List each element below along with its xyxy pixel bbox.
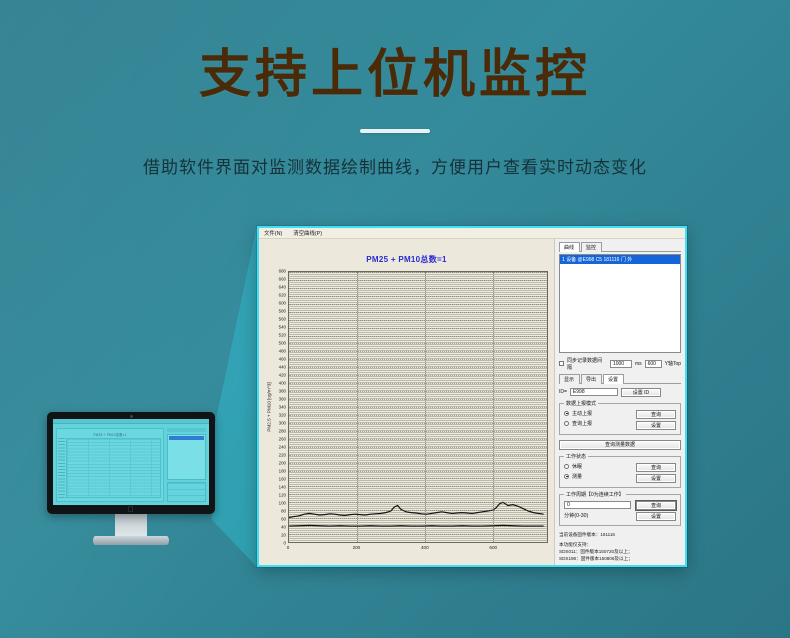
chart-y-axis-label: PM2.5 + PM10 [ug/m^3]	[264, 271, 273, 543]
work-cycle-input[interactable]: 0	[564, 501, 631, 509]
sync-interval-input[interactable]: 1000	[610, 360, 632, 368]
work-cycle-hint: 分钟(0-30)	[564, 512, 631, 519]
chart-gridline-h	[289, 359, 547, 360]
chart-x-ticks: 0200400600	[288, 545, 548, 557]
chart-x-tick: 400	[421, 545, 429, 550]
chart-y-tick: 100	[279, 501, 286, 506]
chart-y-tick: 620	[279, 293, 286, 298]
work-state-option-sleep-row[interactable]: 休眠	[564, 463, 631, 470]
mini-chart-plot	[66, 438, 161, 498]
device-id-label: ID=	[559, 389, 567, 395]
work-state-set-button[interactable]: 设置	[636, 474, 676, 483]
chart-gridline-h	[289, 447, 547, 448]
chart-gridline-h	[289, 526, 547, 527]
chart-gridline-h	[289, 455, 547, 456]
report-mode-radio-query[interactable]	[564, 421, 569, 426]
page-title: 支持上位机监控	[0, 46, 790, 106]
footnote-support-line-2: SDS198：固件版本150806及以上；	[559, 555, 681, 562]
chart-y-tick: 300	[279, 421, 286, 426]
mini-panel-column	[167, 428, 206, 502]
chart-gridline-h	[289, 534, 547, 535]
work-cycle-body: 0 分钟(0-30) 查询 设置	[564, 501, 676, 521]
chart-gridline-h	[289, 328, 547, 329]
chart-y-tick: 220	[279, 453, 286, 458]
monitor-mini-app: PM25 + PM10总数=1	[53, 419, 209, 505]
work-state-option-measure-row[interactable]: 测量	[564, 473, 631, 480]
chart-gridline-h	[289, 304, 547, 305]
chart-gridline-h	[289, 542, 547, 543]
mini-chart-yticks	[58, 438, 65, 498]
chart-y-tick: 240	[279, 445, 286, 450]
work-cycle-legend: 工作周期【0为连续工作】	[564, 491, 626, 498]
mini-body: PM25 + PM10总数=1	[53, 425, 209, 505]
chart-gridline-h	[289, 288, 547, 289]
report-mode-label-active: 主动上报	[572, 410, 592, 417]
chart-gridline-h	[289, 407, 547, 408]
report-mode-body: 主动上报 查询上报 查询 设置	[564, 410, 676, 430]
subtab-display[interactable]: 显示	[559, 374, 580, 384]
report-mode-label-query: 查询上报	[572, 420, 592, 427]
window-body: PM25 + PM10总数=1 PM2.5 + PM10 [ug/m^3] 02…	[259, 239, 685, 565]
chart-gridline-h	[289, 463, 547, 464]
report-mode-group: 数据上报模式 主动上报 查询上报	[559, 403, 681, 435]
mini-device-selected	[169, 436, 204, 440]
chart-y-tick: 320	[279, 413, 286, 418]
chart-gridline-h	[289, 494, 547, 495]
chart-y-tick: 360	[279, 397, 286, 402]
chart-y-tick: 660	[279, 277, 286, 282]
device-id-input[interactable]: E998	[570, 388, 618, 396]
chart-gridline-h	[289, 367, 547, 368]
chart-y-tick: 120	[279, 493, 286, 498]
chart-y-axis-label-text: PM2.5 + PM10 [ug/m^3]	[266, 382, 271, 431]
sync-record-checkbox[interactable]	[559, 361, 564, 366]
work-state-radio-measure[interactable]	[564, 474, 569, 479]
monitor-camera-icon	[130, 415, 133, 418]
device-list[interactable]: 1 设备 @E998 C5 181116 门 外	[559, 254, 681, 353]
chart-plot-area[interactable]	[288, 271, 548, 543]
mini-tabs	[167, 428, 206, 432]
control-panel: 曲线 监控 1 设备 @E998 C5 181116 门 外 同步记录数据间隔 …	[555, 239, 685, 565]
chart-gridline-h	[289, 272, 547, 273]
tab-curve[interactable]: 曲线	[559, 242, 580, 252]
chart-x-tick: 600	[489, 545, 497, 550]
chart-gridline-h	[289, 471, 547, 472]
chart-y-tick: 440	[279, 365, 286, 370]
chart-area: PM2.5 + PM10 [ug/m^3] 020406080100120140…	[264, 271, 548, 543]
mini-menubar	[53, 419, 209, 424]
chart-gridline-v	[357, 272, 358, 542]
set-id-button[interactable]: 设置 ID	[621, 388, 661, 397]
chart-y-tick: 0	[284, 541, 286, 546]
chart-gridline-h	[289, 486, 547, 487]
report-mode-option-active-row[interactable]: 主动上报	[564, 410, 631, 417]
sync-record-label: 同步记录数据间隔	[567, 357, 607, 371]
y-top-input[interactable]: 600	[645, 360, 662, 368]
footnote-support-title: 本功能仅支持：	[559, 541, 681, 548]
footnote-firmware: 当前设备固件版本：181116	[559, 531, 681, 538]
chart-gridline-h	[289, 510, 547, 511]
chart-y-tick: 280	[279, 429, 286, 434]
monitor-neck	[115, 512, 147, 538]
chart-y-tick: 180	[279, 469, 286, 474]
chart-y-tick: 140	[279, 485, 286, 490]
chart-y-tick: 600	[279, 301, 286, 306]
work-cycle-set-button[interactable]: 设置	[636, 512, 676, 521]
chart-y-tick: 260	[279, 437, 286, 442]
footnote-support-line-1: SDS011：固件版本150720及以上；	[559, 548, 681, 555]
device-list-item[interactable]: 1 设备 @E998 C5 181116 门 外	[560, 255, 680, 264]
chart-gridline-h	[289, 343, 547, 344]
chart-y-tick: 200	[279, 461, 286, 466]
apple-logo-icon: 	[128, 506, 134, 513]
mini-chart-title: PM25 + PM10总数=1	[57, 432, 163, 437]
work-state-group: 工作状态 休眠 测量	[559, 456, 681, 488]
work-state-query-button[interactable]: 查询	[636, 463, 676, 472]
chart-gridline-h	[289, 431, 547, 432]
work-cycle-group: 工作周期【0为连续工作】 0 分钟(0-30) 查询 设置	[559, 494, 681, 526]
chart-gridline-h	[289, 375, 547, 376]
chart-gridline-h	[289, 478, 547, 479]
work-state-radio-sleep[interactable]	[564, 464, 569, 469]
chart-y-tick: 160	[279, 477, 286, 482]
report-mode-option-query-row[interactable]: 查询上报	[564, 420, 631, 427]
chart-gridline-h	[289, 439, 547, 440]
sync-interval-row: 同步记录数据间隔 1000 ms 600 Y轴Top	[559, 357, 681, 371]
chart-y-tick: 60	[281, 517, 286, 522]
chart-y-tick: 400	[279, 381, 286, 386]
chart-gridline-h	[289, 502, 547, 503]
chart-y-tick: 420	[279, 373, 286, 378]
banner: 支持上位机监控 借助软件界面对监测数据绘制曲线，方便用户查看实时动态变化	[0, 46, 790, 178]
chart-gridline-h	[289, 423, 547, 424]
title-divider	[360, 129, 430, 133]
chart-y-tick: 520	[279, 333, 286, 338]
page-root: 支持上位机监控 借助软件界面对监测数据绘制曲线，方便用户查看实时动态变化 PM2…	[0, 0, 790, 638]
chart-gridline-h	[289, 518, 547, 519]
chart-title: PM25 + PM10总数=1	[259, 239, 554, 265]
sync-interval-unit: ms	[635, 361, 642, 367]
subtab-export[interactable]: 导出	[581, 374, 602, 384]
work-state-label-sleep: 休眠	[572, 463, 582, 470]
mini-chart: PM25 + PM10总数=1	[56, 428, 164, 502]
chart-gridline-h	[289, 399, 547, 400]
chart-y-tick: 340	[279, 405, 286, 410]
chart-gridline-h	[289, 280, 547, 281]
panel-tabs: 曲线 监控	[559, 243, 681, 252]
tab-monitor[interactable]: 监控	[581, 242, 602, 252]
chart-y-tick: 680	[279, 269, 286, 274]
chart-y-tick: 560	[279, 317, 286, 322]
work-state-legend: 工作状态	[564, 453, 588, 460]
report-mode-legend: 数据上报模式	[564, 400, 598, 407]
chart-gridline-v	[493, 272, 494, 542]
chart-y-tick: 480	[279, 349, 286, 354]
panel-subtabs: 显示 导出 设置	[559, 375, 681, 384]
chart-gridline-h	[289, 336, 547, 337]
report-mode-set-button[interactable]: 设置	[636, 421, 676, 430]
menu-item-clear-curve[interactable]: 清空曲线(P)	[293, 229, 322, 237]
monitor-illustration: PM25 + PM10总数=1 	[47, 412, 215, 522]
chart-gridline-h	[289, 320, 547, 321]
monitor-base	[93, 536, 169, 545]
chart-y-tick: 20	[281, 533, 286, 538]
chart-gridline-h	[289, 296, 547, 297]
subtab-settings[interactable]: 设置	[603, 374, 624, 384]
chart-y-tick: 540	[279, 325, 286, 330]
chart-gridline-h	[289, 415, 547, 416]
chart-y-tick: 460	[279, 357, 286, 362]
chart-y-tick: 500	[279, 341, 286, 346]
mini-settings-panel	[167, 482, 206, 502]
chart-gridline-h	[289, 383, 547, 384]
chart-y-tick: 580	[279, 309, 286, 314]
work-state-label-measure: 测量	[572, 473, 582, 480]
chart-y-tick: 80	[281, 509, 286, 514]
report-mode-query-button[interactable]: 查询	[636, 410, 676, 419]
work-state-body: 休眠 测量 查询 设置	[564, 463, 676, 483]
chart-gridline-h	[289, 391, 547, 392]
menu-bar: 文件(N) 清空曲线(P)	[259, 228, 685, 239]
chart-y-ticks: 0204060801001201401601802002202402602803…	[273, 271, 288, 543]
chart-panel: PM25 + PM10总数=1 PM2.5 + PM10 [ug/m^3] 02…	[259, 239, 555, 565]
application-window: 文件(N) 清空曲线(P) PM25 + PM10总数=1 PM2.5 + PM…	[257, 226, 687, 567]
chart-gridline-v	[425, 272, 426, 542]
footnote: 当前设备固件版本：181116 本功能仅支持： SDS011：固件版本15072…	[559, 531, 681, 562]
chart-y-tick: 640	[279, 285, 286, 290]
work-cycle-query-button[interactable]: 查询	[636, 501, 676, 510]
chart-y-tick: 380	[279, 389, 286, 394]
query-measure-data-button[interactable]: 查询测量数据	[559, 440, 681, 450]
report-mode-radio-active[interactable]	[564, 411, 569, 416]
mini-device-list	[167, 434, 206, 480]
device-id-row: ID= E998 设置 ID	[559, 388, 681, 397]
chart-gridline-h	[289, 351, 547, 352]
y-top-label: Y轴Top	[665, 360, 681, 367]
monitor-bezel: PM25 + PM10总数=1 	[47, 412, 215, 514]
menu-item-file[interactable]: 文件(N)	[264, 229, 282, 237]
page-subtitle: 借助软件界面对监测数据绘制曲线，方便用户查看实时动态变化	[0, 153, 790, 178]
chart-y-tick: 40	[281, 525, 286, 530]
chart-gridline-h	[289, 312, 547, 313]
monitor-screen: PM25 + PM10总数=1	[53, 419, 209, 505]
chart-x-tick: 0	[287, 545, 290, 550]
chart-x-tick: 200	[353, 545, 361, 550]
